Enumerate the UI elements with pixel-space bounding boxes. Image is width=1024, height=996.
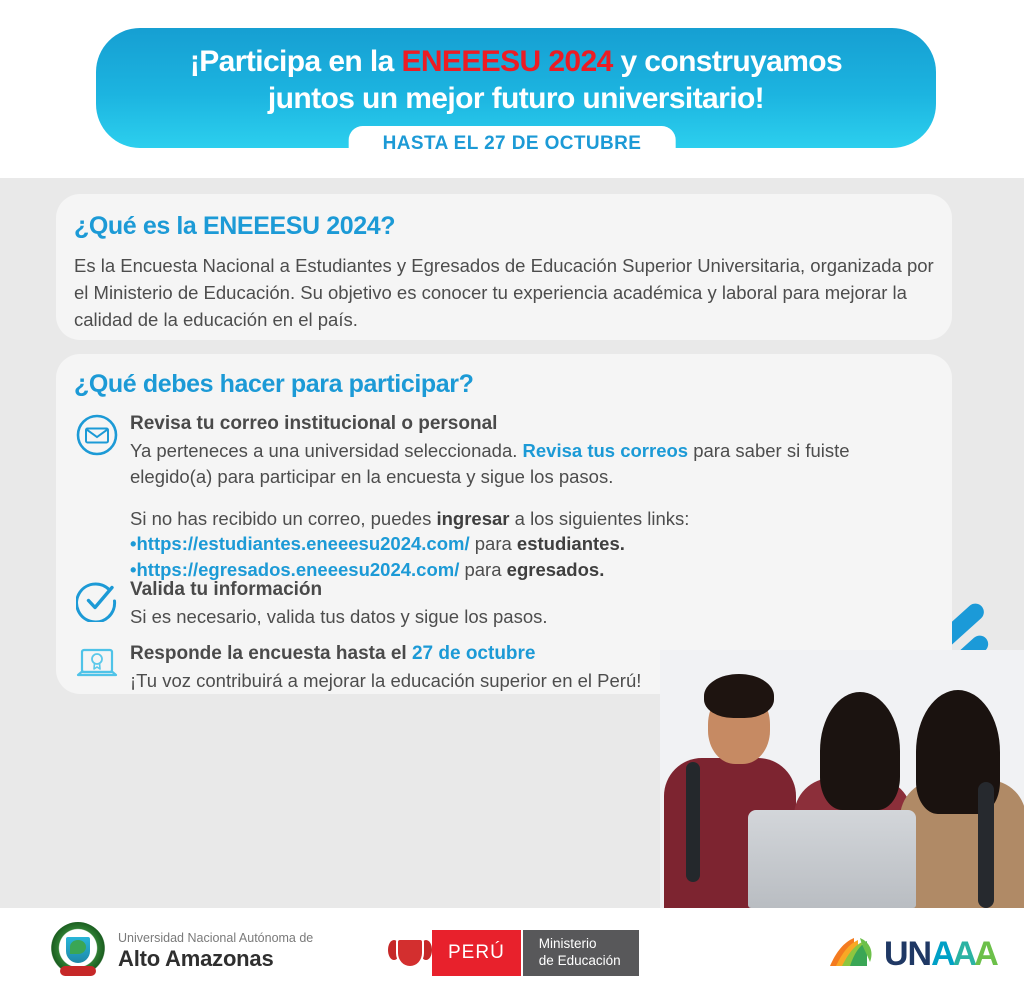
envelope-circle-icon <box>74 412 120 458</box>
links-intro-bold: ingresar <box>436 508 509 529</box>
deadline-pill-label: HASTA EL 27 DE OCTUBRE <box>383 133 642 154</box>
unaaa-letters-un: UN <box>884 935 931 974</box>
university-crest-icon <box>50 922 106 980</box>
step-3-heading-pre: Responde la encuesta hasta el <box>130 643 412 664</box>
header-headline-line-2: juntos un mejor futuro universitario! <box>268 81 764 118</box>
headline-highlight: ENEEESU 2024 <box>401 45 612 78</box>
link-item-estudiantes: •https://estudiantes.eneeesu2024.com/ pa… <box>130 531 934 556</box>
step-2-heading: Valida tu información <box>130 578 774 602</box>
laptop-award-icon <box>74 642 120 688</box>
links-block: Si no has recibido un correo, puedes ing… <box>130 506 934 581</box>
unaaa-letter-a3: A <box>974 935 998 974</box>
check-circle-icon <box>74 578 120 624</box>
steps-panel: ¿Qué debes hacer para participar? Revisa… <box>56 354 952 694</box>
photo-laptop <box>748 810 916 908</box>
ministry-name-line2: de Educación <box>539 953 621 970</box>
deadline-pill: HASTA EL 27 DE OCTUBRE <box>349 126 676 163</box>
about-title: ¿Qué es la ENEEESU 2024? <box>74 212 395 241</box>
ministry-name-block: Ministerio de Educación <box>521 930 639 976</box>
link-suffix-pre: para <box>470 533 517 554</box>
step-check-email: Revisa tu correo institucional o persona… <box>74 412 934 582</box>
step-validate-info: Valida tu información Si es necesario, v… <box>74 578 774 630</box>
link-suffix-pre: para <box>459 559 506 580</box>
about-body-text: Es la Encuesta Nacional a Estudiantes y … <box>74 252 934 333</box>
links-intro-pre: Si no has recibido un correo, puedes <box>130 508 436 529</box>
student-left-backpack-strap <box>686 762 700 882</box>
step-1-text-pre: Ya perteneces a una universidad seleccio… <box>130 440 523 461</box>
links-intro-post: a los siguientes links: <box>510 508 690 529</box>
link-suffix-bold: estudiantes. <box>517 533 625 554</box>
unaaa-book-leaf-icon <box>826 932 880 976</box>
step-1-text: Ya perteneces a una universidad seleccio… <box>130 438 934 491</box>
headline-part-2: y construyamos <box>613 45 842 78</box>
ministry-logo-block: PERÚ Ministerio de Educación <box>388 930 639 976</box>
coat-shield <box>396 938 424 968</box>
unaaa-letter-a1: A <box>931 935 953 974</box>
about-panel: ¿Qué es la ENEEESU 2024? Es la Encuesta … <box>56 194 952 340</box>
crest-leaf-icon <box>70 940 86 954</box>
link-url-egresados[interactable]: https://egresados.eneeesu2024.com/ <box>136 559 459 580</box>
step-1-text-link[interactable]: Revisa tus correos <box>523 440 689 461</box>
header-headline-line-1: ¡Participa en la ENEEESU 2024 y construy… <box>190 44 842 81</box>
university-logo-block: Universidad Nacional Autónoma de Alto Am… <box>50 922 313 980</box>
link-suffix-bold: egresados. <box>507 559 605 580</box>
ministry-country-label: PERÚ <box>432 930 521 976</box>
unaaa-wordmark: UN A A A <box>884 935 998 974</box>
link-url-estudiantes[interactable]: https://estudiantes.eneeesu2024.com/ <box>136 533 469 554</box>
step-3-heading-accent: 27 de octubre <box>412 643 536 664</box>
step-1-heading: Revisa tu correo institucional o persona… <box>130 412 934 436</box>
footer-zone: Universidad Nacional Autónoma de Alto Am… <box>0 908 1024 996</box>
student-middle-hair <box>820 692 900 810</box>
ministry-name-line1: Ministerio <box>539 936 621 953</box>
peru-coat-of-arms-icon <box>388 930 432 976</box>
university-name-block: Universidad Nacional Autónoma de Alto Am… <box>118 931 313 972</box>
unaaa-letter-a2: A <box>953 935 975 974</box>
university-name-line1: Universidad Nacional Autónoma de <box>118 931 313 946</box>
university-name-line2: Alto Amazonas <box>118 946 313 972</box>
step-2-text: Si es necesario, valida tus datos y sigu… <box>130 604 774 630</box>
step-2-body: Valida tu información Si es necesario, v… <box>130 578 774 630</box>
ministry-name-lines: Ministerio de Educación <box>539 936 621 970</box>
steps-title: ¿Qué debes hacer para participar? <box>74 370 473 399</box>
unaaa-logo-block: UN A A A <box>826 932 998 976</box>
student-left-hair <box>704 674 774 718</box>
header-zone: ¡Participa en la ENEEESU 2024 y construy… <box>0 0 1024 178</box>
student-right-backpack-strap <box>978 782 994 908</box>
crest-band <box>60 966 96 976</box>
step-1-body: Revisa tu correo institucional o persona… <box>130 412 934 582</box>
links-intro: Si no has recibido un correo, puedes ing… <box>130 506 934 531</box>
poster-root: ¡Participa en la ENEEESU 2024 y construy… <box>0 0 1024 996</box>
headline-part-1: ¡Participa en la <box>190 45 402 78</box>
students-photo <box>660 650 1024 908</box>
